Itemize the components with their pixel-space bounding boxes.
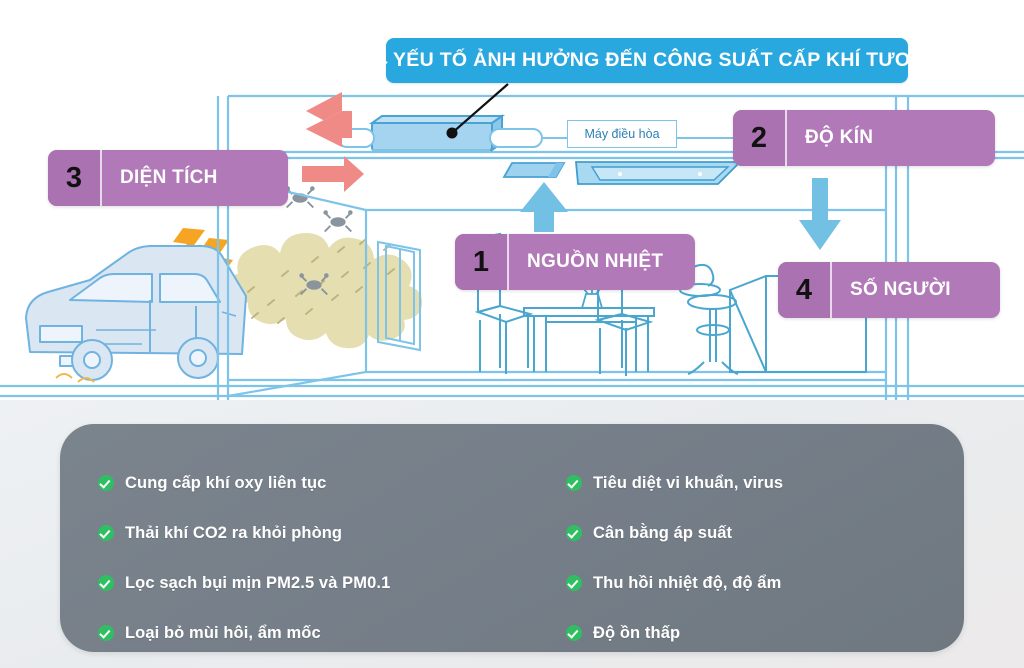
ac-unit-label-text: Máy điều hòa <box>584 127 659 141</box>
factor-label: ĐỘ KÍN <box>787 110 995 166</box>
factor-number: 3 <box>48 150 102 206</box>
title-text: 4 YẾU TỐ ẢNH HƯỞNG ĐẾN CÔNG SUẤT CẤP KHÍ… <box>376 49 917 72</box>
benefits-panel: Cung cấp khí oxy liên tục Thải khí CO2 r… <box>60 424 964 652</box>
factor-label: NGUỒN NHIỆT <box>509 234 695 290</box>
benefits-column-right: Tiêu diệt vi khuẩn, virus Cân bằng áp su… <box>566 468 926 652</box>
factor-chip-dien-tich[interactable]: 3 DIỆN TÍCH <box>48 150 288 206</box>
check-circle-icon <box>566 625 582 641</box>
check-circle-icon <box>98 525 114 541</box>
factor-chip-do-kin[interactable]: 2 ĐỘ KÍN <box>733 110 995 166</box>
room-illustration: 4 YẾU TỐ ẢNH HƯỞNG ĐẾN CÔNG SUẤT CẤP KHÍ… <box>0 0 1024 400</box>
title-banner: 4 YẾU TỐ ẢNH HƯỞNG ĐẾN CÔNG SUẤT CẤP KHÍ… <box>386 38 908 83</box>
check-circle-icon <box>98 625 114 641</box>
benefit-item: Loại bỏ mùi hôi, ẩm mốc <box>98 618 528 648</box>
ceiling-diffuser-icon <box>504 163 564 177</box>
benefit-text: Tiêu diệt vi khuẩn, virus <box>593 474 783 493</box>
check-circle-icon <box>566 575 582 591</box>
benefit-item: Lọc sạch bụi mịn PM2.5 và PM0.1 <box>98 568 528 598</box>
benefit-item: Cung cấp khí oxy liên tục <box>98 468 528 498</box>
ac-unit-label: Máy điều hòa <box>567 120 677 148</box>
factor-number: 2 <box>733 110 787 166</box>
check-circle-icon <box>98 475 114 491</box>
pollution-cloud-icon <box>218 233 422 348</box>
check-circle-icon <box>566 475 582 491</box>
ceiling-cassette-icon <box>576 162 740 184</box>
check-circle-icon <box>566 525 582 541</box>
benefit-text: Cung cấp khí oxy liên tục <box>125 474 326 493</box>
down-arrow-icon <box>799 178 841 250</box>
factor-number: 1 <box>455 234 509 290</box>
benefit-item: Độ ồn thấp <box>566 618 926 648</box>
benefit-text: Loại bỏ mùi hôi, ẩm mốc <box>125 624 321 643</box>
factor-number: 4 <box>778 262 832 318</box>
benefit-text: Thải khí CO2 ra khỏi phòng <box>125 524 342 543</box>
benefit-item: Tiêu diệt vi khuẩn, virus <box>566 468 926 498</box>
car-icon <box>26 246 246 380</box>
factor-label: SỐ NGƯỜI <box>832 262 1000 318</box>
benefit-item: Cân bằng áp suất <box>566 518 926 548</box>
benefit-text: Độ ồn thấp <box>593 624 680 643</box>
benefit-item: Thu hồi nhiệt độ, độ ẩm <box>566 568 926 598</box>
up-arrow-icon <box>520 182 568 232</box>
benefit-text: Thu hồi nhiệt độ, độ ẩm <box>593 574 781 593</box>
factor-chip-so-nguoi[interactable]: 4 SỐ NGƯỜI <box>778 262 1000 318</box>
benefits-section: Cung cấp khí oxy liên tục Thải khí CO2 r… <box>0 400 1024 668</box>
factor-chip-nguon-nhiet[interactable]: 1 NGUỒN NHIỆT <box>455 234 695 290</box>
benefits-column-left: Cung cấp khí oxy liên tục Thải khí CO2 r… <box>98 468 528 652</box>
benefit-text: Cân bằng áp suất <box>593 524 732 543</box>
infographic-root: 4 YẾU TỐ ẢNH HƯỞNG ĐẾN CÔNG SUẤT CẤP KHÍ… <box>0 0 1024 668</box>
factor-label: DIỆN TÍCH <box>102 150 288 206</box>
benefit-text: Lọc sạch bụi mịn PM2.5 và PM0.1 <box>125 574 390 593</box>
check-circle-icon <box>98 575 114 591</box>
benefit-item: Thải khí CO2 ra khỏi phòng <box>98 518 528 548</box>
